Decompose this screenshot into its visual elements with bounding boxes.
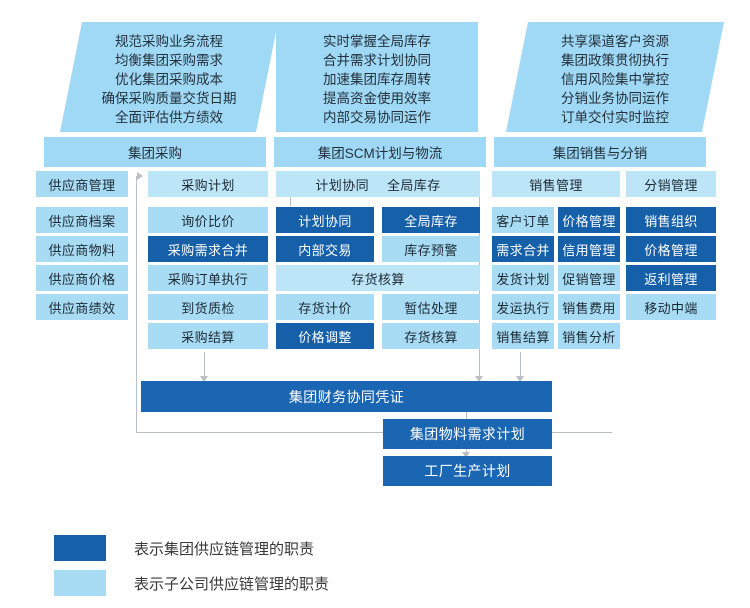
scm-item-inventory-alert[interactable]: 库存预警: [382, 236, 480, 262]
procurement-item-label: 采购结算: [181, 327, 235, 346]
sales-item-customer-order[interactable]: 客户订单: [492, 207, 554, 233]
connector-procurement-vertical: [204, 352, 205, 378]
procurement-item-label: 到货质检: [181, 298, 235, 317]
bottom-bar-finance-voucher[interactable]: 集团财务协同凭证: [141, 381, 552, 412]
sales-item-label: 销售分析: [562, 327, 616, 346]
sales-item-sales-analysis[interactable]: 销售分析: [558, 323, 620, 349]
bottom-bar-material-plan[interactable]: 集团物料需求计划: [383, 419, 552, 449]
sidebar-item-supplier-material[interactable]: 供应商物料: [36, 236, 128, 262]
scm-item-inventory-accounting[interactable]: 存货核算: [382, 323, 480, 349]
scm-item-label: 内部交易: [298, 240, 352, 259]
sales-item-label: 价格管理: [562, 211, 616, 230]
scm-header-inventory-label: 全局库存: [387, 175, 441, 194]
sales-item-sales-expense[interactable]: 销售费用: [558, 294, 620, 320]
legend-row-group: 表示集团供应链管理的职责: [54, 535, 314, 561]
scm-item-price-adjustment[interactable]: 价格调整: [276, 323, 374, 349]
legend-label: 表示集团供应链管理的职责: [134, 538, 314, 559]
section-header-label: 集团销售与分销: [553, 142, 648, 162]
sales-header-management[interactable]: 销售管理: [492, 171, 620, 197]
procurement-item-label: 采购订单执行: [168, 269, 248, 288]
distribution-item-sales-org[interactable]: 销售组织: [626, 207, 716, 233]
sidebar-item-label: 供应商物料: [48, 240, 115, 259]
sales-item-credit-management[interactable]: 信用管理: [558, 236, 620, 262]
legend-swatch-group: [54, 535, 106, 561]
sales-item-promotion-management[interactable]: 促销管理: [558, 265, 620, 291]
sales-item-label: 销售费用: [562, 298, 616, 317]
banner-line: 规范采购业务流程: [74, 32, 264, 51]
sales-item-price-management[interactable]: 价格管理: [558, 207, 620, 233]
sidebar-item-label: 供应商档案: [48, 211, 115, 230]
sidebar-item-label: 供应商价格: [48, 269, 115, 288]
procurement-item-settlement[interactable]: 采购结算: [148, 323, 268, 349]
sidebar-item-supplier-profile[interactable]: 供应商档案: [36, 207, 128, 233]
distribution-item-price-management[interactable]: 价格管理: [626, 236, 716, 262]
sales-item-label: 需求合并: [496, 240, 550, 259]
scm-item-label: 价格调整: [298, 327, 352, 346]
banner-line: 加速集团库存周转: [290, 70, 464, 89]
banner-line: 确保采购质量交货日期: [74, 89, 264, 108]
scm-header-row[interactable]: 计划协同 全局库存: [276, 171, 480, 197]
section-header-scm[interactable]: 集团SCM计划与物流: [274, 137, 486, 167]
sales-item-shipment-execution[interactable]: 发运执行: [492, 294, 554, 320]
legend-swatch-subsidiary: [54, 570, 106, 596]
connector-supplier-vertical: [136, 176, 137, 432]
scm-item-global-inventory[interactable]: 全局库存: [382, 207, 480, 233]
scm-item-inventory-valuation[interactable]: 存货计价: [276, 294, 374, 320]
procurement-header-label: 采购计划: [181, 175, 235, 194]
scm-item-internal-trade[interactable]: 内部交易: [276, 236, 374, 262]
sidebar-item-supplier-performance[interactable]: 供应商绩效: [36, 294, 128, 320]
scm-header-plan-label: 计划协同: [315, 175, 369, 194]
diagram-canvas: 规范采购业务流程 均衡集团采购需求 优化集团采购成本 确保采购质量交货日期 全面…: [0, 0, 750, 608]
legend-label: 表示子公司供应链管理的职责: [134, 573, 329, 594]
sales-item-delivery-plan[interactable]: 发货计划: [492, 265, 554, 291]
bottom-bar-label: 集团物料需求计划: [410, 424, 525, 444]
sales-banner: 共享渠道客户资源 集团政策贯彻执行 信用风险集中掌控 分销业务协同运作 订单交付…: [506, 22, 724, 132]
sidebar-header-label: 供应商管理: [48, 175, 115, 194]
procurement-item-order-execution[interactable]: 采购订单执行: [148, 265, 268, 291]
sidebar-header-supplier-management[interactable]: 供应商管理: [36, 171, 128, 197]
sales-item-settlement[interactable]: 销售结算: [492, 323, 554, 349]
distribution-item-label: 返利管理: [644, 269, 698, 288]
bottom-bar-production-plan[interactable]: 工厂生产计划: [383, 456, 552, 486]
section-header-label: 集团采购: [128, 142, 182, 162]
sidebar-item-supplier-price[interactable]: 供应商价格: [36, 265, 128, 291]
scm-item-label: 计划协同: [298, 211, 352, 230]
sales-header-label: 销售管理: [529, 175, 583, 194]
distribution-item-label: 价格管理: [644, 240, 698, 259]
distribution-item-rebate-management[interactable]: 返利管理: [626, 265, 716, 291]
sales-item-label: 促销管理: [562, 269, 616, 288]
banner-line: 内部交易协同运作: [290, 108, 464, 127]
procurement-item-goods-inspection[interactable]: 到货质检: [148, 294, 268, 320]
connector-scm-left: [290, 196, 291, 206]
banner-line: 全面评估供方绩效: [74, 108, 264, 127]
sales-item-demand-merge[interactable]: 需求合并: [492, 236, 554, 262]
section-header-label: 集团SCM计划与物流: [318, 142, 443, 162]
banner-line: 均衡集团采购需求: [74, 51, 264, 70]
sales-header-distribution[interactable]: 分销管理: [626, 171, 716, 197]
banner-line: 实时掌握全局库存: [290, 32, 464, 51]
sales-item-label: 客户订单: [496, 211, 550, 230]
procurement-item-label: 询价比价: [181, 211, 235, 230]
section-header-procurement[interactable]: 集团采购: [44, 137, 266, 167]
section-header-sales[interactable]: 集团销售与分销: [494, 137, 706, 167]
procurement-item-label: 采购需求合并: [168, 240, 248, 259]
sales-header-label: 分销管理: [644, 175, 698, 194]
bottom-bar-label: 工厂生产计划: [424, 461, 510, 481]
connector-arrow-supplier: [137, 172, 143, 180]
scm-item-label: 存货核算: [404, 327, 458, 346]
banner-line: 提高资金使用效率: [290, 89, 464, 108]
legend-row-subsidiary: 表示子公司供应链管理的职责: [54, 570, 329, 596]
scm-banner: 实时掌握全局库存 合并需求计划协同 加速集团库存周转 提高资金使用效率 内部交易…: [276, 22, 478, 132]
scm-subheader-label: 存货核算: [351, 269, 405, 288]
banner-line: 集团政策贯彻执行: [520, 51, 710, 70]
scm-item-label: 全局库存: [404, 211, 458, 230]
sales-item-label: 销售结算: [496, 327, 550, 346]
scm-subheader-inventory-accounting[interactable]: 存货核算: [276, 265, 480, 291]
distribution-item-mobile-terminal[interactable]: 移动中端: [626, 294, 716, 320]
distribution-item-label: 销售组织: [644, 211, 698, 230]
sales-item-label: 发运执行: [496, 298, 550, 317]
banner-line: 共享渠道客户资源: [520, 32, 710, 51]
procurement-banner: 规范采购业务流程 均衡集团采购需求 优化集团采购成本 确保采购质量交货日期 全面…: [60, 22, 278, 132]
connector-sales-vertical: [520, 352, 521, 378]
scm-item-provisional-estimate[interactable]: 暂估处理: [382, 294, 480, 320]
sales-item-label: 信用管理: [562, 240, 616, 259]
scm-item-label: 库存预警: [404, 240, 458, 259]
sidebar-item-label: 供应商绩效: [48, 298, 115, 317]
banner-line: 订单交付实时监控: [520, 108, 710, 127]
scm-item-label: 存货计价: [298, 298, 352, 317]
procurement-item-quote-compare[interactable]: 询价比价: [148, 207, 268, 233]
procurement-header-plan[interactable]: 采购计划: [148, 171, 268, 197]
distribution-item-label: 移动中端: [644, 298, 698, 317]
scm-item-plan-collab[interactable]: 计划协同: [276, 207, 374, 233]
banner-line: 信用风险集中掌控: [520, 70, 710, 89]
scm-item-label: 暂估处理: [404, 298, 458, 317]
bottom-bar-label: 集团财务协同凭证: [289, 387, 404, 407]
banner-line: 合并需求计划协同: [290, 51, 464, 70]
sales-item-label: 发货计划: [496, 269, 550, 288]
procurement-item-demand-merge[interactable]: 采购需求合并: [148, 236, 268, 262]
banner-line: 优化集团采购成本: [74, 70, 264, 89]
banner-line: 分销业务协同运作: [520, 89, 710, 108]
